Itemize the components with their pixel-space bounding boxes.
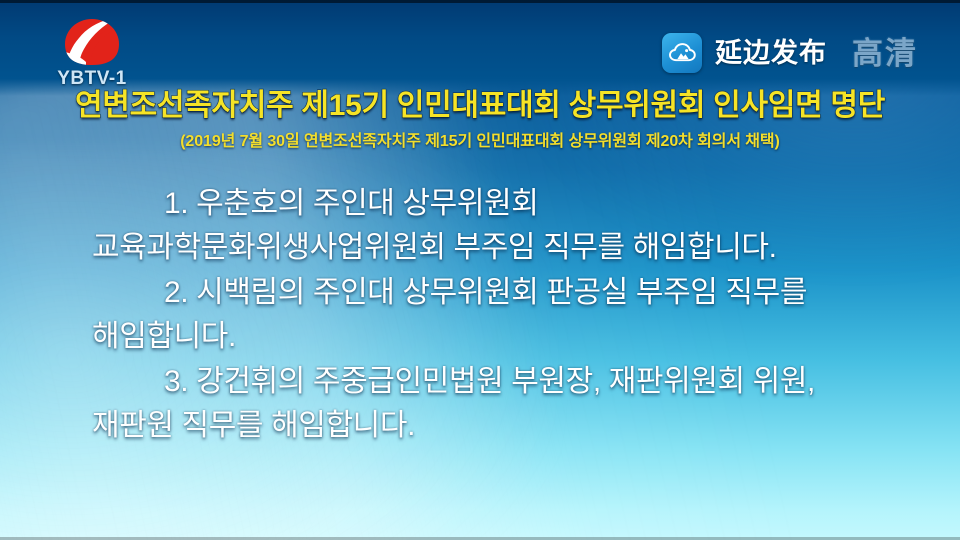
list-item: 2. 시백림의 주인대 상무위원회 판공실 부주임 직무를 해임합니다. bbox=[92, 271, 888, 358]
station-branding: YBTV-1 bbox=[32, 18, 152, 88]
resolution-body: 1. 우춘호의 주인대 상무위원회 교육과학문화위생사업위원회 부주임 직무를 … bbox=[0, 182, 960, 447]
cloud-mountain-icon bbox=[662, 33, 702, 73]
publisher-branding: 延边发布 高清 bbox=[662, 33, 918, 73]
ybtv-swoosh-logo-icon bbox=[63, 18, 121, 68]
headline-block: 연변조선족자치주 제15기 인민대표대회 상무위원회 인사임면 명단 (2019… bbox=[0, 89, 960, 151]
list-item: 1. 우춘호의 주인대 상무위원회 교육과학문화위생사업위원회 부주임 직무를 … bbox=[92, 182, 888, 269]
list-item: 3. 강건휘의 주중급인민법원 부원장, 재판위원회 위원, 재판원 직무를 해… bbox=[92, 360, 888, 447]
page-title: 연변조선족자치주 제15기 인민대표대회 상무위원회 인사임면 명단 bbox=[0, 89, 960, 123]
station-callsign-label: YBTV-1 bbox=[32, 69, 152, 88]
page-subtitle: (2019년 7월 30일 연변조선족자치주 제15기 인민대표대회 상무위원회… bbox=[0, 132, 960, 151]
publisher-name-label: 延边发布 bbox=[715, 40, 827, 67]
broadcast-frame: YBTV-1 延边发布 高清 연변조선족자치주 제15기 인민대표대회 상무위원… bbox=[0, 0, 960, 540]
hd-quality-badge: 高清 bbox=[852, 38, 918, 69]
